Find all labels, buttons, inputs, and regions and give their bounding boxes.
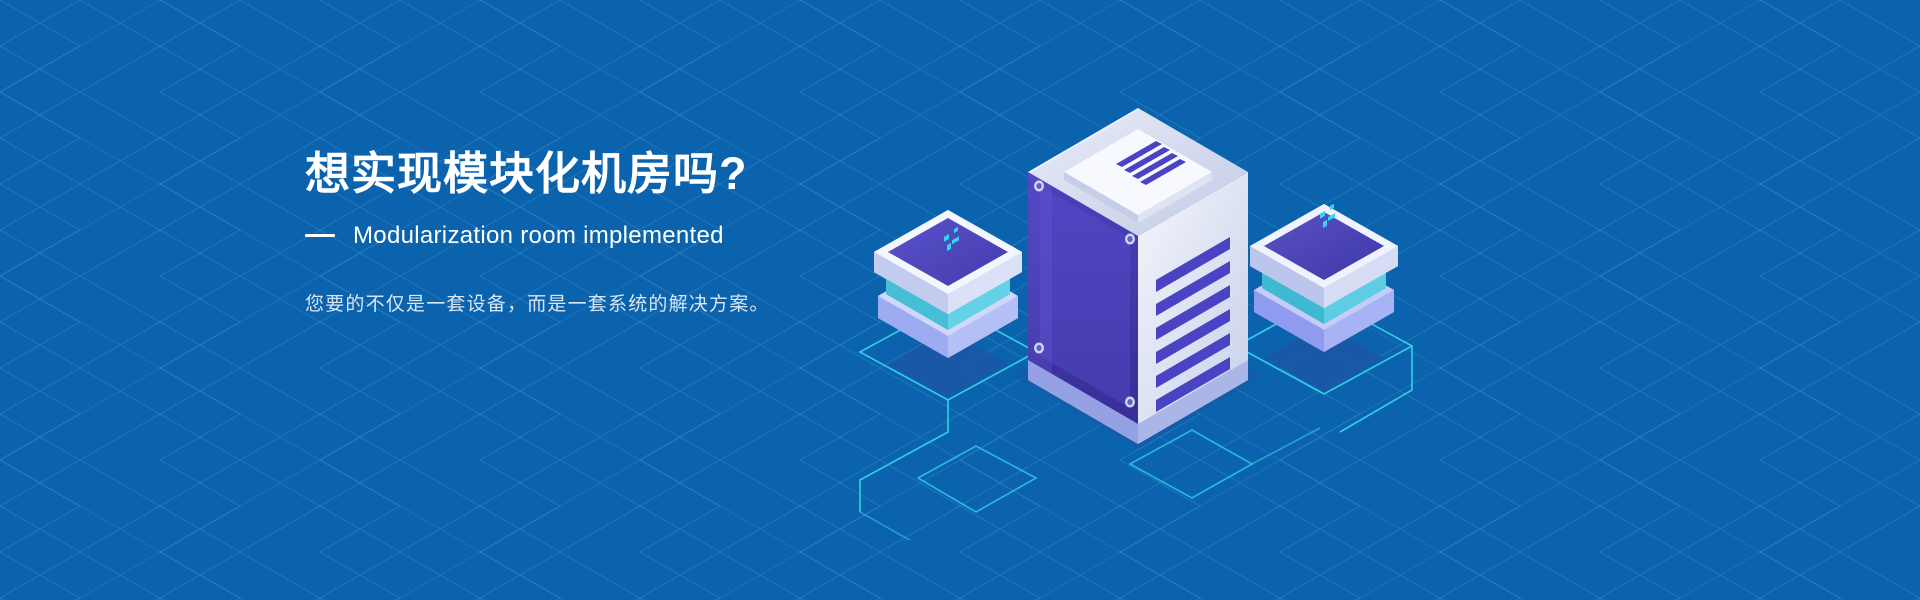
page-subtitle: Modularization room implemented <box>353 222 724 250</box>
server-rack-center <box>1014 108 1262 448</box>
page-description: 您要的不仅是一套设备，而是一套系统的解决方案。 <box>305 290 925 320</box>
hero-banner: 想实现模块化机房吗? Modularization room implement… <box>0 0 1920 600</box>
subtitle-row: Modularization room implemented <box>305 222 925 250</box>
module-right <box>1250 204 1398 392</box>
dash-divider-icon <box>305 234 335 237</box>
page-title: 想实现模块化机房吗? <box>305 148 925 200</box>
hero-text-block: 想实现模块化机房吗? Modularization room implement… <box>305 148 925 320</box>
